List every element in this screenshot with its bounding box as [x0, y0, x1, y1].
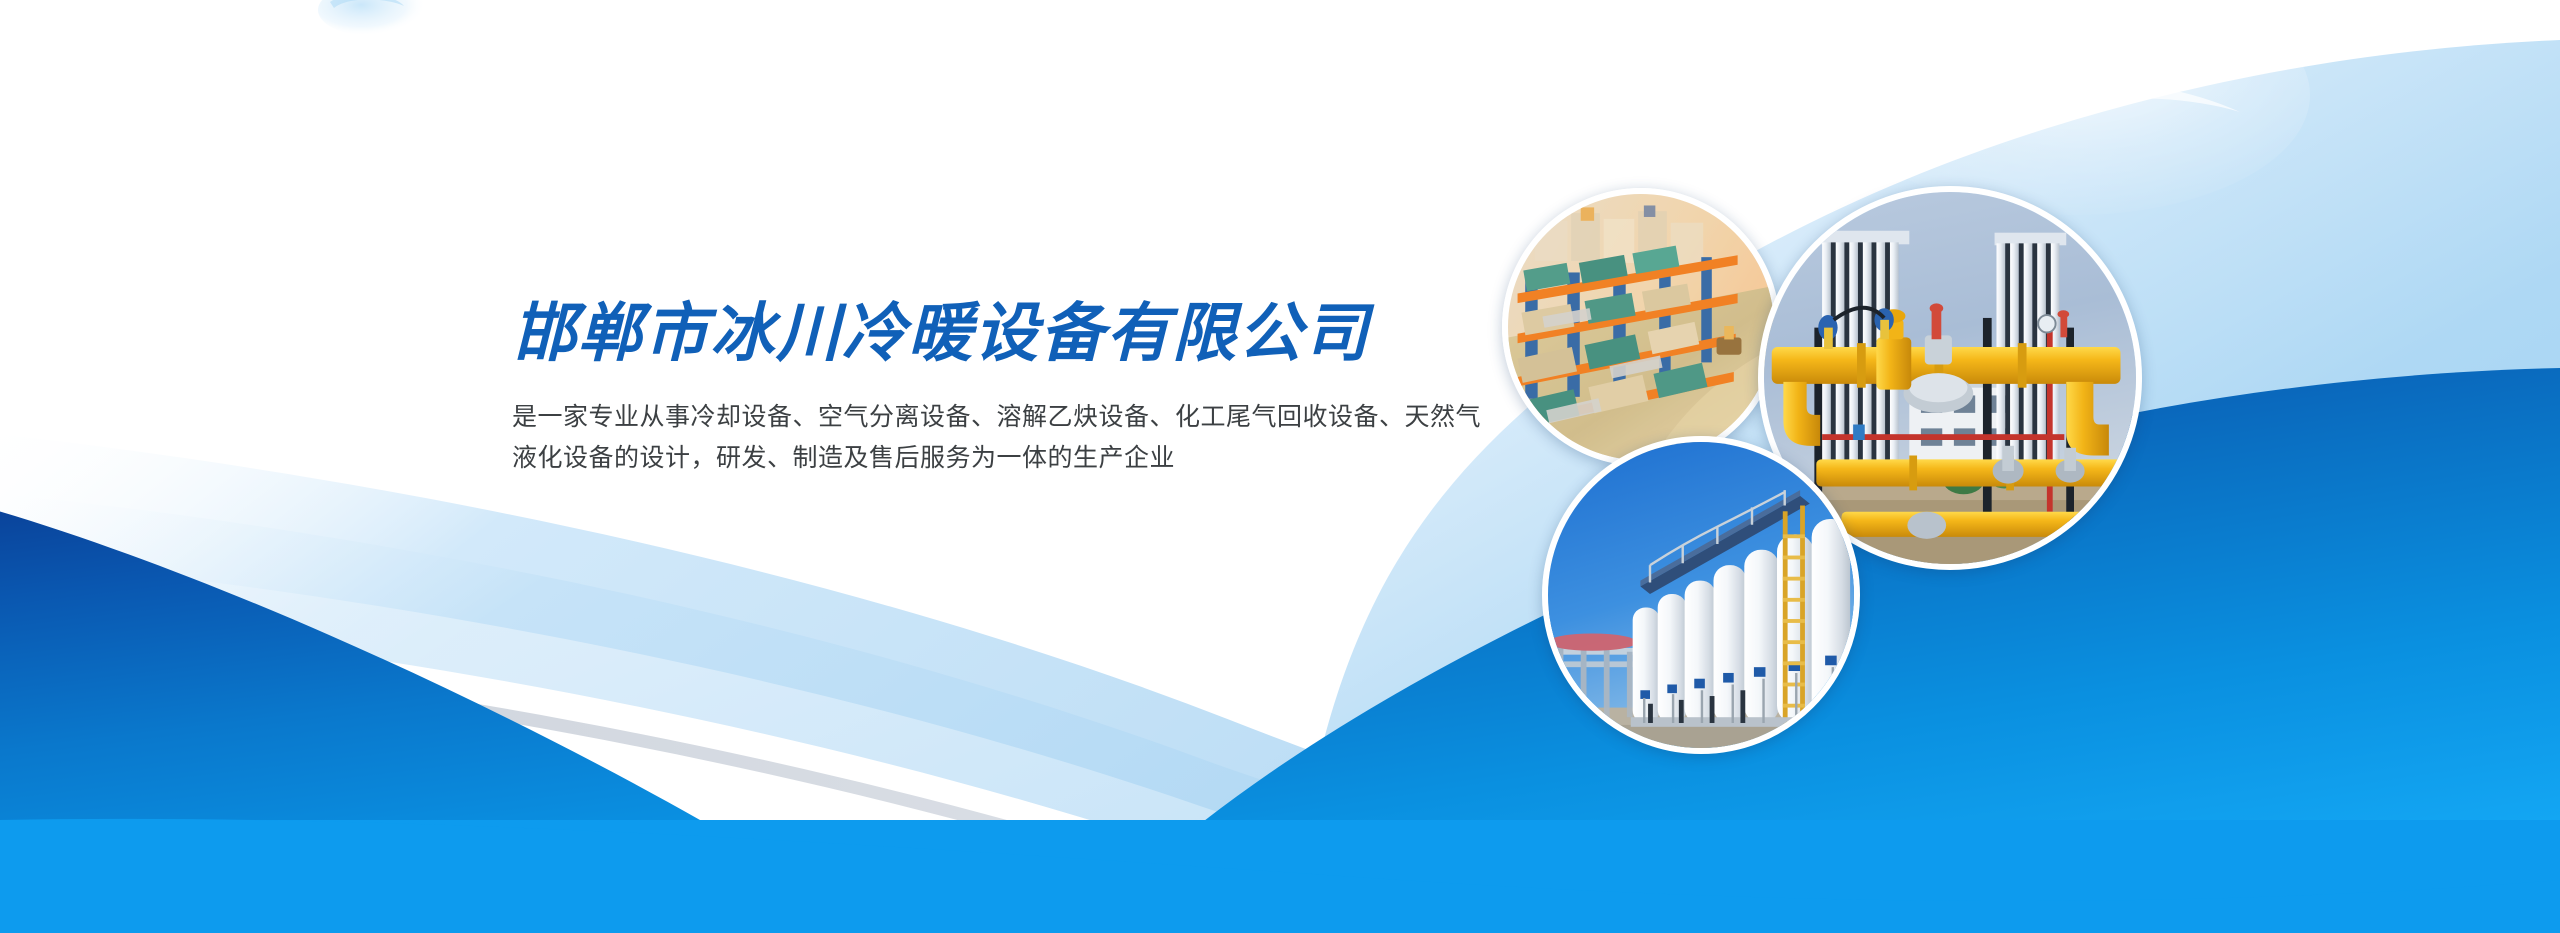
tanks-photo	[1548, 442, 1854, 748]
company-description-line-2: 液化设备的设计，研发、制造及售后服务为一体的生产企业	[512, 438, 1512, 479]
company-description: 是一家专业从事冷却设备、空气分离设备、溶解乙炔设备、化工尾气回收设备、天然气 液…	[512, 397, 1512, 478]
company-banner: 邯郸市冰川冷暖设备有限公司 是一家专业从事冷却设备、空气分离设备、溶解乙炔设备、…	[0, 0, 2560, 933]
photo-circle-cryogenic-tanks	[1542, 436, 1860, 754]
company-description-line-1: 是一家专业从事冷却设备、空气分离设备、溶解乙炔设备、化工尾气回收设备、天然气	[512, 397, 1512, 438]
banner-text-block: 邯郸市冰川冷暖设备有限公司 是一家专业从事冷却设备、空气分离设备、溶解乙炔设备、…	[512, 300, 1572, 478]
company-title: 邯郸市冰川冷暖设备有限公司	[512, 300, 1572, 367]
